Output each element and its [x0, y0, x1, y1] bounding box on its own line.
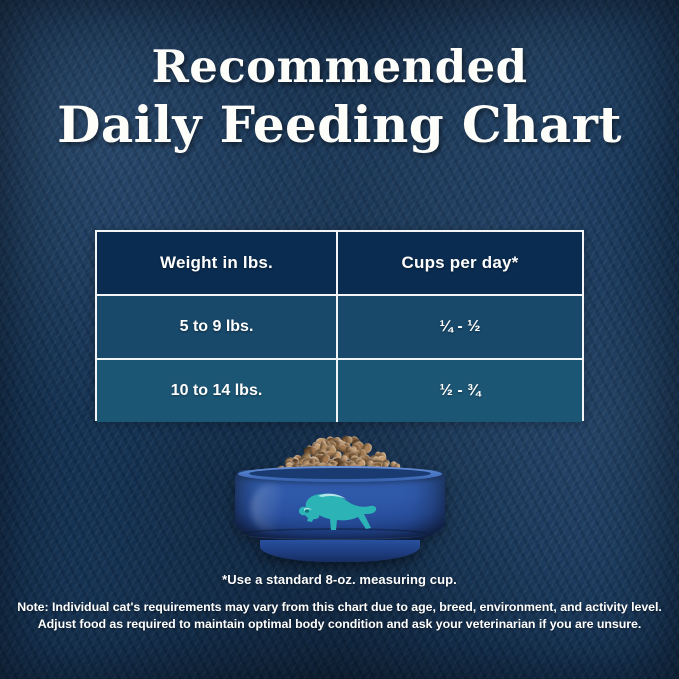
table-cell-weight-2: 10 to 14 lbs.: [97, 360, 336, 422]
table-header-weight-label: Weight in lbs.: [160, 253, 273, 273]
table-header-cups-label: Cups per day*: [402, 253, 519, 273]
table-header-cups: Cups per day*: [336, 232, 582, 294]
feeding-chart-image: Recommended Daily Feeding Chart Weight i…: [0, 0, 679, 679]
disclaimer-note-line2: Adjust food as required to maintain opti…: [0, 616, 679, 633]
bison-logo: [292, 488, 384, 536]
page-title-line1: Recommended: [0, 44, 679, 89]
table-cell-weight-1: 5 to 9 lbs.: [97, 296, 336, 358]
measuring-cup-footnote: *Use a standard 8-oz. measuring cup.: [0, 572, 679, 587]
bowl-stage: [230, 432, 450, 570]
table-row: 5 to 9 lbs. ¼ - ½: [97, 294, 582, 358]
disclaimer-note: Note: Individual cat's requirements may …: [0, 599, 679, 633]
bowl-inner-opening: [249, 468, 431, 479]
disclaimer-note-line1: Note: Individual cat's requirements may …: [0, 599, 679, 616]
table-header-weight: Weight in lbs.: [97, 232, 336, 294]
table-header-row: Weight in lbs. Cups per day*: [97, 232, 582, 294]
table-cell-weight-2-value: 10 to 14 lbs.: [171, 382, 263, 400]
table-cell-cups-1: ¼ - ½: [336, 296, 582, 358]
table-cell-cups-2: ½ - ¾: [336, 360, 582, 422]
feeding-table: Weight in lbs. Cups per day* 5 to 9 lbs.…: [95, 230, 584, 421]
table-cell-cups-1-value: ¼ - ½: [440, 318, 481, 336]
table-row: 10 to 14 lbs. ½ - ¾: [97, 358, 582, 422]
bowl-highlight: [251, 484, 291, 532]
table-cell-cups-2-value: ½ - ¾: [440, 382, 481, 400]
page-title-line2: Daily Feeding Chart: [0, 100, 679, 150]
page-title: Recommended Daily Feeding Chart: [0, 44, 679, 150]
bowl-illustration: [0, 432, 679, 570]
bowl-base: [260, 540, 420, 562]
table-cell-weight-1-value: 5 to 9 lbs.: [180, 318, 254, 336]
